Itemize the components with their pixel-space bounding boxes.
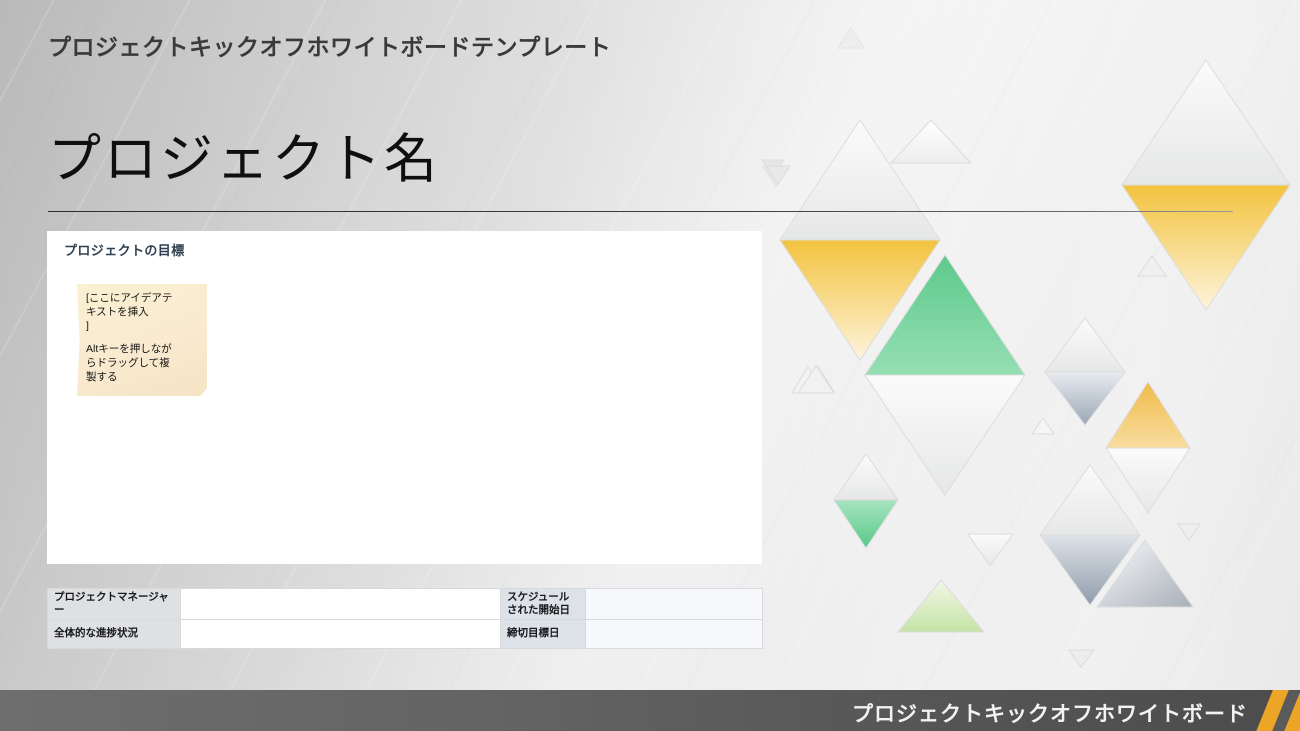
project-title[interactable]: プロジェクト名 <box>48 131 440 188</box>
label-target-deadline: 締切目標日 <box>501 619 586 648</box>
template-title: プロジェクトキックオフホワイトボードテンプレート <box>48 28 611 62</box>
table-row: 全体的な進捗状況 締切目標日 <box>48 619 763 648</box>
triangle-white-large-right <box>1122 60 1290 185</box>
triangle-down-mini-right <box>1178 524 1200 540</box>
goals-panel-heading: プロジェクトの目標 <box>64 240 185 259</box>
triangle-mini-center <box>1032 418 1054 434</box>
triangle-small-top <box>838 28 864 48</box>
triangle-green-small <box>834 500 898 548</box>
triangle-down-left-edge <box>766 166 790 184</box>
triangle-white-small-green-top <box>834 454 898 500</box>
value-overall-progress[interactable] <box>181 619 501 648</box>
slide-canvas: プロジェクトキックオフホワイトボードテンプレート プロジェクト名 プロジェクトの… <box>0 0 1300 731</box>
triangle-white-steel-top <box>1045 318 1125 372</box>
triangle-amber-large-right <box>1122 185 1290 310</box>
triangle-down-white-center <box>968 534 1013 566</box>
sticky-line-4: Altキーを押しなが <box>86 343 198 357</box>
triangle-steel-bottom-right <box>1097 540 1193 607</box>
label-scheduled-start: スケジュールされた開始日 <box>501 589 586 620</box>
table-row: プロジェクトマネージャー スケジュールされた開始日 <box>48 589 763 620</box>
title-divider <box>48 211 1233 212</box>
value-project-manager[interactable] <box>181 589 501 620</box>
triangle-small-topleft-group <box>798 366 834 393</box>
triangle-orange-small <box>1106 382 1190 448</box>
triangle-white-under-green <box>865 375 1025 495</box>
triangle-down-small-title <box>762 160 784 179</box>
triangle-down-tiny-bottom <box>1069 650 1094 667</box>
triangle-green-large <box>865 255 1025 375</box>
label-project-manager: プロジェクトマネージャー <box>48 589 181 620</box>
triangle-steel-upper <box>1045 372 1125 425</box>
triangle-small-left-mid <box>792 367 824 393</box>
triangle-amber-large-left <box>780 240 940 360</box>
triangle-white-under-orange <box>1106 448 1190 513</box>
sticky-line-3: ] <box>86 320 198 334</box>
triangle-small-left-green <box>802 366 834 392</box>
sticky-spacer <box>86 334 198 343</box>
value-target-deadline[interactable] <box>586 619 763 648</box>
triangle-down-left <box>763 167 789 186</box>
triangle-steel-lower-right <box>1040 535 1140 605</box>
footer-title: プロジェクトキックオフホワイトボード <box>852 698 1248 728</box>
sticky-line-2: キストを挿入 <box>86 306 198 320</box>
goals-panel[interactable]: プロジェクトの目標 [ここにアイデアテ キストを挿入 ] Altキーを押しなが … <box>47 231 762 564</box>
project-info-table: プロジェクトマネージャー スケジュールされた開始日 全体的な進捗状況 締切目標日 <box>47 588 763 649</box>
triangle-white-lower-right <box>1040 465 1140 535</box>
triangle-small-right-amber <box>1138 256 1166 276</box>
triangle-white-upper <box>891 120 971 163</box>
footer-bar: プロジェクトキックオフホワイトボード <box>0 690 1300 731</box>
sticky-line-5: らドラッグして複 <box>86 357 198 371</box>
sticky-line-1: [ここにアイデアテ <box>86 292 198 306</box>
value-scheduled-start[interactable] <box>586 589 763 620</box>
triangle-pale-green-bottom <box>898 580 984 632</box>
sticky-note[interactable]: [ここにアイデアテ キストを挿入 ] Altキーを押しなが らドラッグして複 製… <box>77 284 207 396</box>
triangle-white-large-left <box>780 120 940 240</box>
label-overall-progress: 全体的な進捗状況 <box>48 619 181 648</box>
sticky-line-6: 製する <box>86 371 198 385</box>
